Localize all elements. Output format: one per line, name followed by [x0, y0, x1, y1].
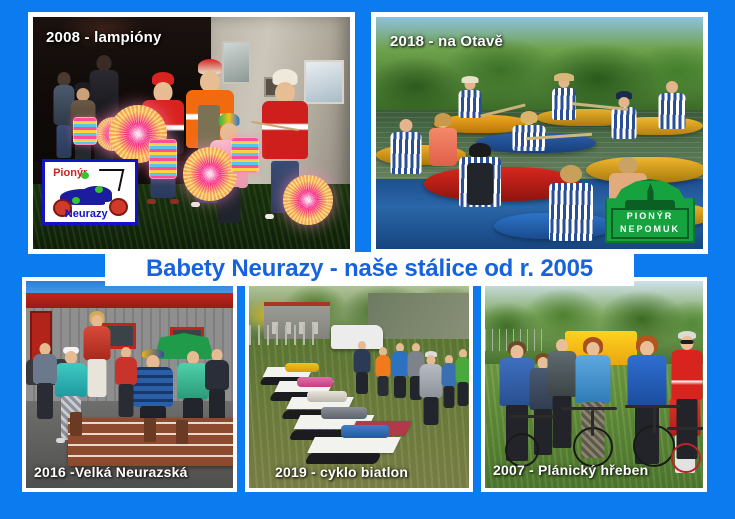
head [275, 82, 295, 103]
striped-shirt [391, 132, 422, 174]
paddler-vest [458, 143, 502, 219]
person-standing [375, 347, 391, 395]
lantern-drum [149, 139, 177, 179]
sun-hat [462, 76, 479, 83]
photo-caption-planicky-hreben: 2007 - Plánický hřeben [493, 462, 648, 478]
striped-shirt [549, 183, 593, 241]
legs [444, 386, 455, 408]
head [97, 55, 112, 71]
sunglasses-icon [681, 340, 694, 344]
paddler-pink [428, 115, 458, 169]
logo-pionyr-nepomuk: PIONÝR NEPOMUK [605, 179, 695, 243]
wheel [671, 443, 701, 473]
lightblue-jacket [576, 355, 611, 403]
paddler [458, 79, 482, 121]
head [640, 341, 654, 356]
child-background [204, 349, 230, 423]
legs [119, 384, 134, 417]
photo-planicky-hreben: 2007 - Plánický hřeben [485, 281, 703, 488]
photo-velka-neurazska: 2016 -Velká Neurazská [26, 281, 233, 488]
pink-top [429, 128, 457, 166]
vest-orange [376, 355, 391, 377]
window [304, 60, 344, 104]
paper-lantern [283, 175, 333, 225]
green-accent [81, 172, 89, 179]
child-background [32, 343, 58, 419]
logo-pionyr-neurazy: Pionýr Neurazy [42, 159, 138, 225]
life-vest [467, 163, 493, 205]
shoe [170, 199, 179, 204]
photo-caption-cyklo-biatlon: 2019 - cyklo biatlon [275, 464, 408, 480]
jacket-red [262, 101, 308, 159]
jacket-grey [548, 351, 577, 397]
photo-collage-poster: 2008 - lampióny Pionýr Neurazy [0, 0, 735, 519]
cycling-jersey-red [672, 350, 703, 400]
shoe [191, 202, 200, 207]
paddler [551, 75, 577, 121]
legs [458, 382, 469, 406]
photo-caption-lampiony: 2008 - lampióny [46, 29, 162, 46]
legs [378, 376, 389, 396]
striped-shirt [459, 90, 482, 118]
legs [356, 372, 368, 394]
person-standing [353, 341, 371, 393]
poster-title-banner: Babety Neurazy - naše stálice od r. 2005 [105, 252, 634, 286]
legs [88, 359, 107, 397]
paper-lantern [183, 147, 237, 201]
logo-text-nepomuk: NEPOMUK [605, 224, 695, 234]
lantern-drum [231, 137, 259, 173]
fence [249, 325, 315, 345]
prone-shooter [341, 425, 389, 438]
handlebar [509, 415, 555, 418]
hurdle-block [144, 418, 156, 442]
poster-title-text: Babety Neurazy - naše stálice od r. 2005 [146, 255, 593, 283]
jacket [205, 360, 229, 390]
teal-hoodie [55, 363, 87, 397]
jacket-red [115, 357, 137, 385]
jacket [33, 354, 57, 384]
head [154, 82, 173, 102]
jacket-green [456, 357, 470, 383]
person-standing [455, 349, 469, 405]
shooting-pad [304, 453, 381, 464]
legs [394, 376, 406, 398]
bicycle [559, 401, 625, 467]
photo-frame-lampiony: 2008 - lampióny Pionýr Neurazy [28, 12, 355, 254]
bicycle-child [667, 423, 703, 473]
hurdle-block [70, 412, 82, 436]
hair-bun [560, 165, 582, 183]
fork [653, 408, 656, 434]
photo-cyklo-biatlon: 2019 - cyklo biatlon [249, 281, 469, 488]
striped-shirt [612, 107, 637, 139]
head [587, 342, 600, 356]
sun-hat [554, 73, 574, 81]
handlebar [667, 427, 703, 430]
photo-frame-planicky-hreben: 2007 - Plánický hřeben [481, 277, 707, 492]
logo-text-neurazy: Neurazy [65, 208, 108, 220]
photo-caption-velka-neurazska: 2016 -Velká Neurazská [34, 464, 188, 480]
legs [37, 383, 53, 419]
plaid-shirt [133, 367, 173, 407]
paddler [548, 165, 594, 243]
prone-shooter [285, 363, 319, 372]
paddler [611, 91, 637, 139]
helmet [469, 143, 491, 157]
hair [435, 113, 452, 126]
jacket-dark [354, 349, 371, 373]
paddler [658, 81, 686, 131]
photo-frame-cyklo-biatlon: 2019 - cyklo biatlon [245, 277, 473, 492]
legs [424, 397, 439, 425]
head [666, 81, 678, 93]
grey-hoodie [420, 364, 443, 398]
jacket-blue [392, 351, 409, 377]
shoe [56, 438, 65, 443]
moped-wheel-rear [109, 198, 128, 216]
photo-otava: 2018 - na Otavě PIONÝR NEPOMUK [376, 17, 703, 249]
fork [591, 410, 594, 436]
shoe [147, 199, 156, 204]
head [200, 71, 220, 92]
prone-shooter [297, 377, 333, 387]
photo-caption-otava: 2018 - na Otavě [390, 33, 503, 50]
shoe [265, 214, 274, 219]
head [400, 119, 413, 132]
handlebar [561, 407, 617, 410]
prone-shooter [321, 407, 367, 419]
person-standing [419, 351, 443, 423]
hair-bun [618, 157, 638, 174]
photo-frame-otava: 2018 - na Otavě PIONÝR NEPOMUK [371, 12, 708, 254]
shooting-mat [307, 437, 401, 453]
photo-frame-velka-neurazska: 2016 -Velká Neurazská [22, 277, 237, 492]
lantern-drum [73, 117, 97, 145]
photo-lampiony: 2008 - lampióny Pionýr Neurazy [33, 17, 350, 249]
bicycle [505, 409, 565, 467]
head [58, 72, 71, 86]
striped-shirt [659, 93, 686, 129]
hurdle-block [176, 420, 188, 444]
paddler [512, 113, 546, 153]
child-background [114, 347, 138, 417]
prone-shooter [307, 391, 347, 402]
logo-text-pionyr: PIONÝR [605, 211, 695, 221]
head [511, 345, 524, 359]
hair-blond [521, 111, 538, 123]
green-accent [72, 197, 80, 204]
paddler [390, 119, 422, 175]
